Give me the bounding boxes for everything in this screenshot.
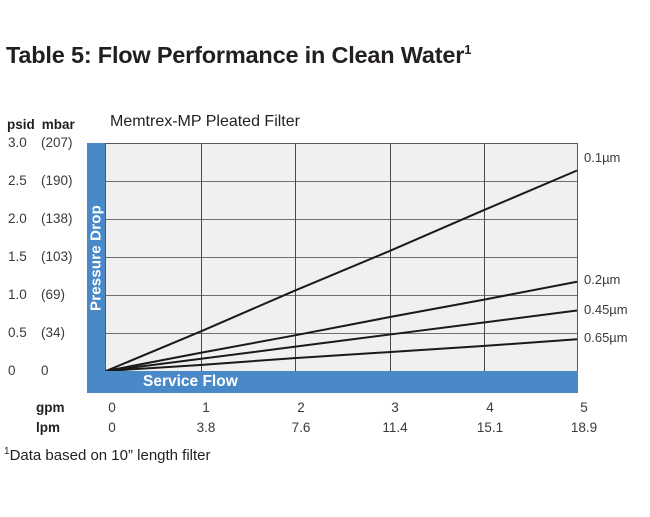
y-axis-unit-secondary: mbar — [42, 117, 75, 132]
page-title-text: Table 5: Flow Performance in Clean Water — [6, 42, 464, 68]
y-tick-mbar: (34) — [41, 325, 85, 340]
y-tick-row: 2.0 (138) — [0, 211, 86, 229]
footnote: 1Data based on 10” length filter — [4, 446, 211, 464]
x-tick-lpm: 7.6 — [271, 420, 331, 435]
y-tick-mbar: (69) — [41, 287, 85, 302]
series-label-1: 0.2µm — [584, 272, 620, 287]
y-tick-mbar: 0 — [41, 363, 85, 378]
series-label-2: 0.45µm — [584, 302, 628, 317]
y-tick-psid: 2.0 — [8, 211, 38, 226]
y-tick-psid: 1.0 — [8, 287, 38, 302]
plot-area — [105, 143, 578, 372]
chart-page: Table 5: Flow Performance in Clean Water… — [0, 0, 650, 517]
x-tick-lpm: 3.8 — [176, 420, 236, 435]
series-line-3 — [106, 339, 577, 371]
y-tick-psid: 3.0 — [8, 135, 38, 150]
y-tick-psid: 2.5 — [8, 173, 38, 188]
x-tick-lpm: 18.9 — [554, 420, 614, 435]
x-axis-unit-gpm: gpm — [36, 400, 82, 415]
service-flow-label: Service Flow — [143, 373, 238, 391]
pressure-drop-label: Pressure Drop — [88, 205, 105, 311]
y-axis-unit-primary: psid — [7, 117, 35, 132]
y-tick-row: 1.0 (69) — [0, 287, 86, 305]
y-tick-row: 1.5 (103) — [0, 249, 86, 267]
series-line-1 — [106, 282, 577, 371]
y-tick-psid: 0.5 — [8, 325, 38, 340]
page-title-superscript: 1 — [464, 42, 471, 57]
y-tick-mbar: (207) — [41, 135, 85, 150]
x-tick-gpm: 5 — [554, 400, 614, 415]
y-tick-mbar: (190) — [41, 173, 85, 188]
series-label-0: 0.1µm — [584, 150, 620, 165]
x-tick-gpm: 2 — [271, 400, 331, 415]
x-tick-lpm: 11.4 — [365, 420, 425, 435]
y-tick-psid: 1.5 — [8, 249, 38, 264]
y-tick-mbar: (138) — [41, 211, 85, 226]
x-tick-lpm: 0 — [82, 420, 142, 435]
series-label-3: 0.65µm — [584, 330, 628, 345]
x-axis-row-gpm: gpm 0 1 2 3 4 5 — [0, 400, 650, 418]
x-tick-gpm: 4 — [460, 400, 520, 415]
y-tick-row: 2.5 (190) — [0, 173, 86, 191]
x-tick-gpm: 1 — [176, 400, 236, 415]
curves-svg — [106, 144, 577, 371]
x-tick-gpm: 0 — [82, 400, 142, 415]
y-axis-unit-header: psidmbar — [7, 117, 75, 132]
y-tick-row: 3.0 (207) — [0, 135, 86, 153]
chart-subtitle: Memtrex-MP Pleated Filter — [110, 113, 300, 131]
x-tick-gpm: 3 — [365, 400, 425, 415]
x-tick-lpm: 15.1 — [460, 420, 520, 435]
x-axis-unit-lpm: lpm — [36, 420, 82, 435]
y-tick-row: 0 0 — [0, 363, 86, 381]
service-flow-axis-band: Service Flow — [87, 371, 578, 393]
y-tick-row: 0.5 (34) — [0, 325, 86, 343]
footnote-text: Data based on 10” length filter — [10, 447, 211, 464]
page-title: Table 5: Flow Performance in Clean Water… — [6, 42, 471, 69]
pressure-drop-axis-band: Pressure Drop — [87, 143, 105, 372]
x-axis-row-lpm: lpm 0 3.8 7.6 11.4 15.1 18.9 — [0, 420, 650, 438]
y-tick-mbar: (103) — [41, 249, 85, 264]
y-tick-psid: 0 — [8, 363, 38, 378]
